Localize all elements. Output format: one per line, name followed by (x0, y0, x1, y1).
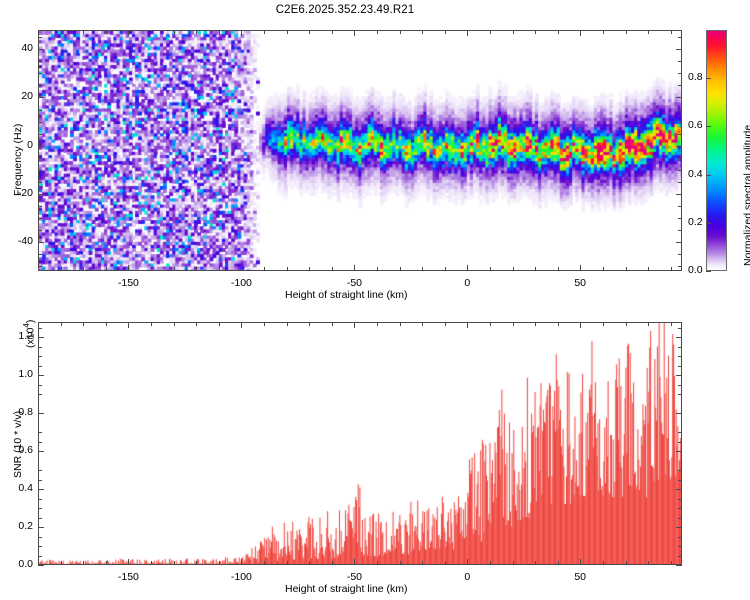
snr-ytick-minor (38, 356, 42, 357)
spectrogram-xtick-minor (671, 267, 672, 271)
spectrogram-ytick-minor (38, 85, 42, 86)
spectrogram-xtick-minor-top (377, 30, 378, 34)
spectrogram-xtick (467, 265, 468, 271)
spectrogram-ytick (38, 194, 44, 195)
snr-xtick-minor-top (490, 322, 491, 326)
spectrogram-xtick-minor-top (558, 30, 559, 34)
colorbar-ticklabel: 0.2 (688, 216, 703, 228)
spectrogram-ytick-minor-right (678, 230, 682, 231)
spectrogram-ytick-minor (38, 134, 42, 135)
spectrogram-plot-area (38, 30, 682, 271)
snr-xtick-top (467, 322, 468, 328)
spectrogram-xticklabel: 50 (574, 277, 586, 289)
spectrogram-ytick-minor-right (678, 73, 682, 74)
spectrogram-ytick-minor (38, 218, 42, 219)
snr-xtick-minor (151, 561, 152, 565)
spectrogram-xticklabel: -150 (118, 277, 139, 289)
spectrogram-xtick-minor (174, 267, 175, 271)
snr-xtick-minor (332, 561, 333, 565)
spectrogram-ytick-right (676, 146, 682, 147)
snr-ytick-minor (38, 347, 42, 348)
spectrogram-ytick-minor (38, 206, 42, 207)
snr-xtick-minor (445, 561, 446, 565)
snr-xticklabel: 0 (464, 571, 470, 583)
spectrogram-ytick-minor (38, 230, 42, 231)
figure-root: C2E6.2025.352.23.49.R21 Frequency (Hz) H… (0, 0, 750, 600)
snr-xtick-minor-top (219, 322, 220, 326)
snr-xtick-minor-top (603, 322, 604, 326)
snr-ytick-minor-right (678, 546, 682, 547)
spectrogram-xtick-minor-top (196, 30, 197, 34)
spectrogram-ytick-minor-right (678, 134, 682, 135)
snr-ytick-minor (38, 537, 42, 538)
snr-ytick-minor-right (678, 328, 682, 329)
snr-xtick-minor (558, 561, 559, 565)
spectrogram-xtick-top (354, 30, 355, 36)
spectrogram-ytick-minor-right (678, 122, 682, 123)
spectrogram-xtick-minor (264, 267, 265, 271)
snr-ytick (38, 337, 44, 338)
spectrogram-ytick-minor (38, 158, 42, 159)
spectrogram-xtick-minor (445, 267, 446, 271)
snr-ytick-minor (38, 442, 42, 443)
snr-ytick (38, 413, 44, 414)
spectrogram-xtick-minor-top (513, 30, 514, 34)
spectrogram-xtick-minor-top (309, 30, 310, 34)
snr-ytick-minor-right (678, 470, 682, 471)
snr-xtick-minor (535, 561, 536, 565)
snr-xtick-minor-top (626, 322, 627, 326)
snr-ytick-right (676, 375, 682, 376)
spectrogram-xtick-minor (332, 267, 333, 271)
spectrogram-xtick-minor-top (445, 30, 446, 34)
spectrogram-ytick-minor (38, 61, 42, 62)
spectrogram-xtick-minor (196, 267, 197, 271)
spectrogram-xtick-minor-top (422, 30, 423, 34)
spectrogram-xtick-minor (287, 267, 288, 271)
spectrogram-ytick (38, 146, 44, 147)
snr-yticklabel: 0.6 (5, 444, 33, 456)
snr-ytick-minor-right (678, 366, 682, 367)
snr-ytick-minor (38, 385, 42, 386)
snr-xtick (354, 559, 355, 565)
spectrogram-ytick-minor (38, 170, 42, 171)
snr-ytick-right (676, 565, 682, 566)
spectrogram-xtick-top (128, 30, 129, 36)
spectrogram-ytick-minor (38, 37, 42, 38)
snr-yticklabel: 0.8 (5, 406, 33, 418)
spectrogram-ytick (38, 49, 44, 50)
spectrogram-xtick-minor (490, 267, 491, 271)
snr-ytick (38, 375, 44, 376)
snr-xtick-minor (196, 561, 197, 565)
spectrogram-ytick-minor-right (678, 85, 682, 86)
snr-xtick-minor (490, 561, 491, 565)
snr-xtick-minor (106, 561, 107, 565)
colorbar-tick (706, 78, 711, 79)
snr-xtick-minor-top (377, 322, 378, 326)
spectrogram-ytick-minor (38, 110, 42, 111)
spectrogram-xtick-minor (648, 267, 649, 271)
snr-ytick (38, 565, 44, 566)
snr-xtick-top (241, 322, 242, 328)
snr-ytick (38, 527, 44, 528)
snr-xtick-minor-top (535, 322, 536, 326)
spectrogram-ytick-minor-right (678, 158, 682, 159)
snr-xtick-minor-top (287, 322, 288, 326)
snr-xticklabel: -50 (347, 571, 362, 583)
snr-xtick-minor (264, 561, 265, 565)
colorbar-tick (706, 126, 711, 127)
snr-ytick-minor-right (678, 356, 682, 357)
snr-xtick-top (354, 322, 355, 328)
spectrogram-image (39, 31, 682, 271)
snr-xtick-minor (61, 561, 62, 565)
colorbar-ticklabel: 0.6 (688, 119, 703, 131)
snr-xtick-minor-top (648, 322, 649, 326)
spectrogram-yticklabel: -40 (5, 235, 33, 247)
spectrogram-xtick-minor-top (83, 30, 84, 34)
snr-plot-area (38, 322, 682, 565)
spectrogram-xtick-minor-top (332, 30, 333, 34)
spectrogram-xtick-minor (626, 267, 627, 271)
snr-xtick-minor-top (309, 322, 310, 326)
spectrogram-xtick-minor (309, 267, 310, 271)
snr-yticklabel: 1.2 (5, 330, 33, 342)
snr-ytick-minor (38, 556, 42, 557)
spectrogram-xtick-minor (151, 267, 152, 271)
snr-xtick-minor-top (38, 322, 39, 326)
spectrogram-xtick-minor (558, 267, 559, 271)
snr-xtick-minor-top (196, 322, 197, 326)
snr-ytick-right (676, 413, 682, 414)
snr-ytick-minor-right (678, 442, 682, 443)
spectrogram-ytick-minor (38, 266, 42, 267)
spectrogram-xtick-minor-top (174, 30, 175, 34)
colorbar-ticklabel: 0.0 (688, 264, 703, 276)
spectrogram-xtick-minor (83, 267, 84, 271)
snr-xtick-minor (219, 561, 220, 565)
spectrogram-ytick-right (676, 242, 682, 243)
spectrogram-xtick (354, 265, 355, 271)
snr-ytick-right (676, 337, 682, 338)
spectrogram-ytick-minor-right (678, 110, 682, 111)
colorbar-panel: Normalized spectral amplitude 0.00.20.40… (690, 0, 750, 300)
snr-xlabel: Height of straight line (km) (285, 583, 408, 595)
snr-xtick-minor-top (671, 322, 672, 326)
spectrogram-ytick-minor-right (678, 254, 682, 255)
snr-ytick-right (676, 527, 682, 528)
spectrogram-ytick-minor (38, 73, 42, 74)
spectrogram-xtick-minor (377, 267, 378, 271)
snr-xticklabel: -150 (118, 571, 139, 583)
snr-ytick-minor (38, 546, 42, 547)
spectrogram-ytick-minor-right (678, 170, 682, 171)
snr-xticklabel: -100 (231, 571, 252, 583)
snr-ytick-minor (38, 328, 42, 329)
snr-xtick-minor (603, 561, 604, 565)
snr-ytick-minor-right (678, 537, 682, 538)
snr-xtick-minor-top (151, 322, 152, 326)
snr-xtick-minor-top (332, 322, 333, 326)
snr-xtick-top (580, 322, 581, 328)
snr-xtick-minor (648, 561, 649, 565)
snr-xtick-minor (422, 561, 423, 565)
spectrogram-ytick-minor-right (678, 206, 682, 207)
snr-xtick-minor-top (106, 322, 107, 326)
spectrogram-xtick-top (241, 30, 242, 36)
snr-xtick-minor (174, 561, 175, 565)
snr-yticklabel: 1.0 (5, 368, 33, 380)
snr-xtick-minor-top (174, 322, 175, 326)
snr-ytick-minor-right (678, 347, 682, 348)
spectrogram-xtick-minor-top (671, 30, 672, 34)
snr-xtick-minor (287, 561, 288, 565)
colorbar-label: Normalized spectral amplitude (742, 125, 750, 266)
snr-xtick-top (128, 322, 129, 328)
spectrogram-xtick-minor (400, 267, 401, 271)
spectrogram-xtick-minor (535, 267, 536, 271)
snr-xtick (467, 559, 468, 565)
snr-ytick-minor (38, 470, 42, 471)
snr-trace (39, 323, 682, 565)
snr-xticklabel: 50 (574, 571, 586, 583)
snr-ytick-minor (38, 432, 42, 433)
snr-xtick-minor (671, 561, 672, 565)
snr-xtick-minor-top (264, 322, 265, 326)
snr-ytick-minor-right (678, 556, 682, 557)
spectrogram-xtick-minor-top (535, 30, 536, 34)
spectrogram-xtick-minor (61, 267, 62, 271)
snr-ytick (38, 451, 44, 452)
spectrogram-xtick (128, 265, 129, 271)
spectrogram-xtick-minor-top (151, 30, 152, 34)
colorbar-tick (706, 271, 711, 272)
colorbar-tick (706, 223, 711, 224)
spectrogram-xtick-minor (219, 267, 220, 271)
spectrogram-xtick-minor (38, 267, 39, 271)
spectrogram-ytick-right (676, 49, 682, 50)
spectrogram-ytick-minor-right (678, 61, 682, 62)
snr-xtick-minor (400, 561, 401, 565)
spectrogram-xtick-minor (513, 267, 514, 271)
snr-ytick-minor (38, 508, 42, 509)
spectrogram-panel: Frequency (Hz) Height of straight line (… (0, 0, 690, 300)
spectrogram-xtick-top (580, 30, 581, 36)
spectrogram-yticklabel: -20 (5, 187, 33, 199)
spectrogram-ytick-minor-right (678, 182, 682, 183)
colorbar-ticklabel: 0.4 (688, 168, 703, 180)
snr-xtick-minor-top (422, 322, 423, 326)
spectrogram-ytick-minor (38, 182, 42, 183)
snr-ytick-minor-right (678, 385, 682, 386)
colorbar-gradient (706, 30, 727, 271)
spectrogram-ytick-minor-right (678, 37, 682, 38)
spectrogram-ytick-minor-right (678, 266, 682, 267)
spectrogram-ytick-minor (38, 122, 42, 123)
spectrogram-xtick-minor-top (106, 30, 107, 34)
snr-xtick-minor-top (83, 322, 84, 326)
spectrogram-xtick-minor-top (400, 30, 401, 34)
snr-xtick-minor (377, 561, 378, 565)
snr-xtick-minor (309, 561, 310, 565)
snr-ytick (38, 489, 44, 490)
spectrogram-yticklabel: 20 (5, 90, 33, 102)
spectrogram-ytick (38, 242, 44, 243)
spectrogram-xtick (241, 265, 242, 271)
snr-xtick (128, 559, 129, 565)
snr-ytick-minor-right (678, 499, 682, 500)
spectrogram-xtick-minor-top (648, 30, 649, 34)
spectrogram-ytick (38, 97, 44, 98)
snr-ytick-minor-right (678, 508, 682, 509)
snr-xtick-minor-top (445, 322, 446, 326)
snr-ytick-minor-right (678, 394, 682, 395)
spectrogram-xtick-minor-top (603, 30, 604, 34)
spectrogram-xticklabel: 0 (464, 277, 470, 289)
snr-xtick-minor (83, 561, 84, 565)
spectrogram-yticklabel: 0 (5, 139, 33, 151)
spectrogram-ytick-minor (38, 254, 42, 255)
spectrogram-xtick-minor-top (264, 30, 265, 34)
snr-exponent-value: 4 (22, 323, 31, 327)
snr-xtick-minor-top (61, 322, 62, 326)
snr-yticklabel: 0.4 (5, 482, 33, 494)
snr-ytick-minor-right (678, 432, 682, 433)
snr-xtick (241, 559, 242, 565)
spectrogram-xtick-minor-top (287, 30, 288, 34)
spectrogram-xticklabel: -100 (231, 277, 252, 289)
spectrogram-xtick-minor (603, 267, 604, 271)
snr-ytick-minor (38, 480, 42, 481)
snr-xtick-minor (513, 561, 514, 565)
spectrogram-xtick-minor-top (219, 30, 220, 34)
spectrogram-xtick-minor-top (626, 30, 627, 34)
spectrogram-ylabel: Frequency (Hz) (12, 124, 24, 196)
snr-yticklabel: 0.2 (5, 520, 33, 532)
spectrogram-xtick-minor-top (490, 30, 491, 34)
snr-panel: SNR (10 * v/v) (x104) Height of straight… (0, 300, 690, 600)
spectrogram-ytick-right (676, 194, 682, 195)
snr-ytick-minor-right (678, 480, 682, 481)
spectrogram-yticklabel: 40 (5, 42, 33, 54)
snr-xtick-minor-top (558, 322, 559, 326)
snr-xtick (580, 559, 581, 565)
spectrogram-xtick (580, 265, 581, 271)
spectrogram-ytick-minor-right (678, 218, 682, 219)
spectrogram-ytick-right (676, 97, 682, 98)
spectrogram-xtick-minor-top (61, 30, 62, 34)
snr-ytick-right (676, 451, 682, 452)
snr-xtick-minor-top (513, 322, 514, 326)
snr-ytick-minor (38, 499, 42, 500)
spectrogram-xtick-minor-top (38, 30, 39, 34)
snr-ytick-minor-right (678, 518, 682, 519)
spectrogram-xtick-minor (106, 267, 107, 271)
snr-ytick-minor (38, 518, 42, 519)
snr-ytick-minor (38, 394, 42, 395)
snr-xtick-minor-top (400, 322, 401, 326)
snr-xtick-minor (626, 561, 627, 565)
spectrogram-xticklabel: -50 (347, 277, 362, 289)
spectrogram-xtick-top (467, 30, 468, 36)
snr-yticklabel: 0.0 (5, 558, 33, 570)
snr-exponent-tail: ) (25, 320, 37, 324)
snr-ytick-right (676, 489, 682, 490)
snr-ytick-minor (38, 366, 42, 367)
colorbar-tick (706, 175, 711, 176)
colorbar-ticklabel: 0.8 (688, 71, 703, 83)
spectrogram-xtick-minor (422, 267, 423, 271)
